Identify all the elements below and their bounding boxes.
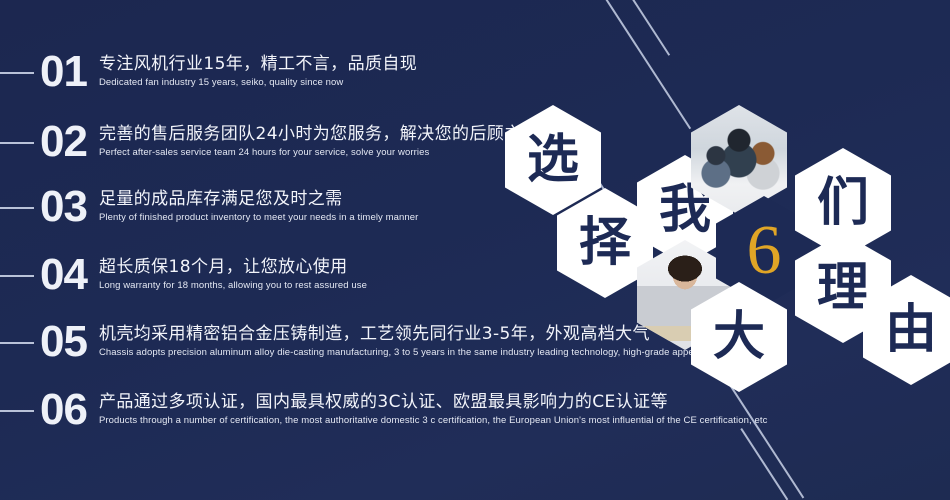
reason-item-03: 03 足量的成品库存满足您及时之需 Plenty of finished pro… bbox=[0, 185, 418, 229]
reason-item-04: 04 超长质保18个月，让您放心使用 Long warranty for 18 … bbox=[0, 253, 367, 297]
bullet-dash-icon bbox=[0, 207, 34, 209]
reason-text-block: 超长质保18个月，让您放心使用 Long warranty for 18 mon… bbox=[99, 253, 367, 292]
reason-number: 04 bbox=[40, 253, 87, 297]
reason-title-en: Long warranty for 18 months, allowing yo… bbox=[99, 279, 367, 292]
reason-text-block: 完善的售后服务团队24小时为您服务，解决您的后顾之忧 Perfect after… bbox=[99, 120, 539, 159]
reason-title-en: Dedicated fan industry 15 years, seiko, … bbox=[99, 76, 417, 89]
reason-title-en: Perfect after-sales service team 24 hour… bbox=[99, 146, 539, 159]
hex-label: 由 bbox=[885, 304, 937, 356]
reason-title-cn: 专注风机行业15年，精工不言，品质自现 bbox=[99, 53, 417, 75]
bullet-dash-icon bbox=[0, 72, 34, 74]
reason-title-en: Products through a number of certificati… bbox=[99, 414, 767, 427]
hex-label: 择 bbox=[579, 217, 631, 269]
reason-title-cn: 足量的成品库存满足您及时之需 bbox=[99, 188, 418, 210]
reason-title-en: Plenty of finished product inventory to … bbox=[99, 211, 418, 224]
hex-label: 选 bbox=[527, 134, 579, 186]
reason-number: 06 bbox=[40, 388, 87, 432]
reason-number: 03 bbox=[40, 185, 87, 229]
bullet-dash-icon bbox=[0, 275, 34, 277]
hex-cell-xuan: 选 bbox=[505, 105, 601, 215]
reason-item-06: 06 产品通过多项认证，国内最具权威的3C认证、欧盟最具影响力的CE认证等 Pr… bbox=[0, 388, 767, 432]
reason-title-cn: 完善的售后服务团队24小时为您服务，解决您的后顾之忧 bbox=[99, 123, 539, 145]
hex-label: 大 bbox=[713, 311, 765, 363]
promo-banner: 01 专注风机行业15年，精工不言，品质自现 Dedicated fan ind… bbox=[0, 0, 950, 500]
reason-text-block: 专注风机行业15年，精工不言，品质自现 Dedicated fan indust… bbox=[99, 50, 417, 89]
hexagon-cluster: 选 择 我 6 大 们 理 由 bbox=[495, 100, 950, 390]
reason-title-cn: 超长质保18个月，让您放心使用 bbox=[99, 256, 367, 278]
reason-text-block: 产品通过多项认证，国内最具权威的3C认证、欧盟最具影响力的CE认证等 Produ… bbox=[99, 388, 767, 427]
bullet-dash-icon bbox=[0, 410, 34, 412]
bullet-dash-icon bbox=[0, 142, 34, 144]
hex-label: 理 bbox=[817, 262, 869, 314]
reason-number: 02 bbox=[40, 120, 87, 164]
reason-number: 05 bbox=[40, 320, 87, 364]
reason-item-02: 02 完善的售后服务团队24小时为您服务，解决您的后顾之忧 Perfect af… bbox=[0, 120, 539, 164]
reason-title-cn: 产品通过多项认证，国内最具权威的3C认证、欧盟最具影响力的CE认证等 bbox=[99, 391, 767, 413]
reason-item-01: 01 专注风机行业15年，精工不言，品质自现 Dedicated fan ind… bbox=[0, 50, 417, 94]
reason-text-block: 足量的成品库存满足您及时之需 Plenty of finished produc… bbox=[99, 185, 418, 224]
hex-label-six: 6 bbox=[747, 216, 782, 286]
hex-label: 们 bbox=[817, 177, 869, 229]
bullet-dash-icon bbox=[0, 342, 34, 344]
reason-number: 01 bbox=[40, 50, 87, 94]
